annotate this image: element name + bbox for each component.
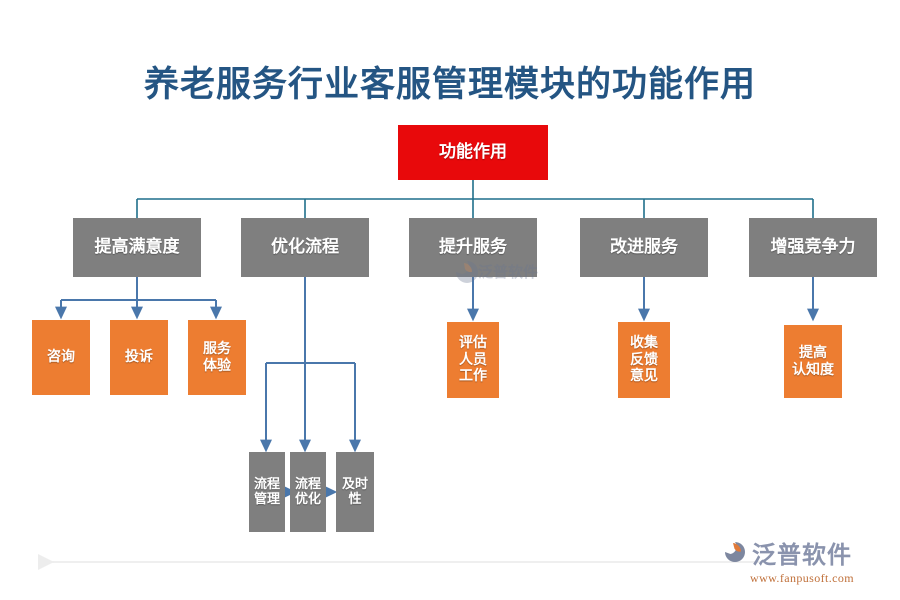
fanpu-logo: 泛普软件 www.fanpusoft.com [722,532,882,588]
node-leaf-process-management[interactable]: 流程 管理 [249,452,285,532]
node-branch-3[interactable]: 提升服务 [409,218,537,277]
node-branch-5[interactable]: 增强竞争力 [749,218,877,277]
node-leaf-process-optimization[interactable]: 流程 优化 [290,452,326,532]
node-branch-4[interactable]: 改进服务 [580,218,708,277]
node-branch-2[interactable]: 优化流程 [241,218,369,277]
node-leaf-consult-label: 咨询 [45,349,77,366]
page-title: 养老服务行业客服管理模块的功能作用 [0,56,900,107]
fanpu-logo-row: 泛普软件 [722,535,852,570]
node-leaf-timeliness-label: 及时 性 [340,477,370,508]
node-leaf-complaint[interactable]: 投诉 [110,320,168,395]
node-branch-2-label: 优化流程 [269,237,341,257]
node-leaf-consult[interactable]: 咨询 [32,320,90,395]
wire-branch-1 [61,277,216,313]
node-root-label: 功能作用 [437,142,509,162]
node-branch-1[interactable]: 提高满意度 [73,218,201,277]
node-leaf-evaluate-staff-work[interactable]: 评估 人员 工作 [447,322,499,398]
fanpu-logo-icon [722,539,748,565]
node-leaf-service-experience-label: 服务 体验 [201,341,233,374]
node-leaf-service-experience[interactable]: 服务 体验 [188,320,246,395]
fanpu-logo-text: 泛普软件 [752,535,852,570]
node-leaf-process-optimization-label: 流程 优化 [293,477,323,508]
node-root[interactable]: 功能作用 [398,125,548,180]
node-leaf-raise-awareness-label: 提高 认知度 [790,345,836,378]
node-leaf-collect-feedback-label: 收集 反馈 意见 [628,335,660,385]
node-leaf-complaint-label: 投诉 [123,349,155,366]
node-leaf-collect-feedback[interactable]: 收集 反馈 意见 [618,322,670,398]
wire-root-to-bus [137,180,813,218]
node-branch-1-label: 提高满意度 [93,237,182,257]
diagram-canvas: 养老服务行业客服管理模块的功能作用 [0,0,900,600]
node-branch-4-label: 改进服务 [608,237,680,257]
fanpu-logo-url: www.fanpusoft.com [750,571,854,586]
node-leaf-raise-awareness[interactable]: 提高 认知度 [784,325,842,398]
node-leaf-timeliness[interactable]: 及时 性 [336,452,374,532]
node-branch-3-label: 提升服务 [437,237,509,257]
node-branch-5-label: 增强竞争力 [769,237,858,257]
node-leaf-process-management-label: 流程 管理 [252,477,282,508]
node-leaf-evaluate-staff-work-label: 评估 人员 工作 [457,335,489,385]
